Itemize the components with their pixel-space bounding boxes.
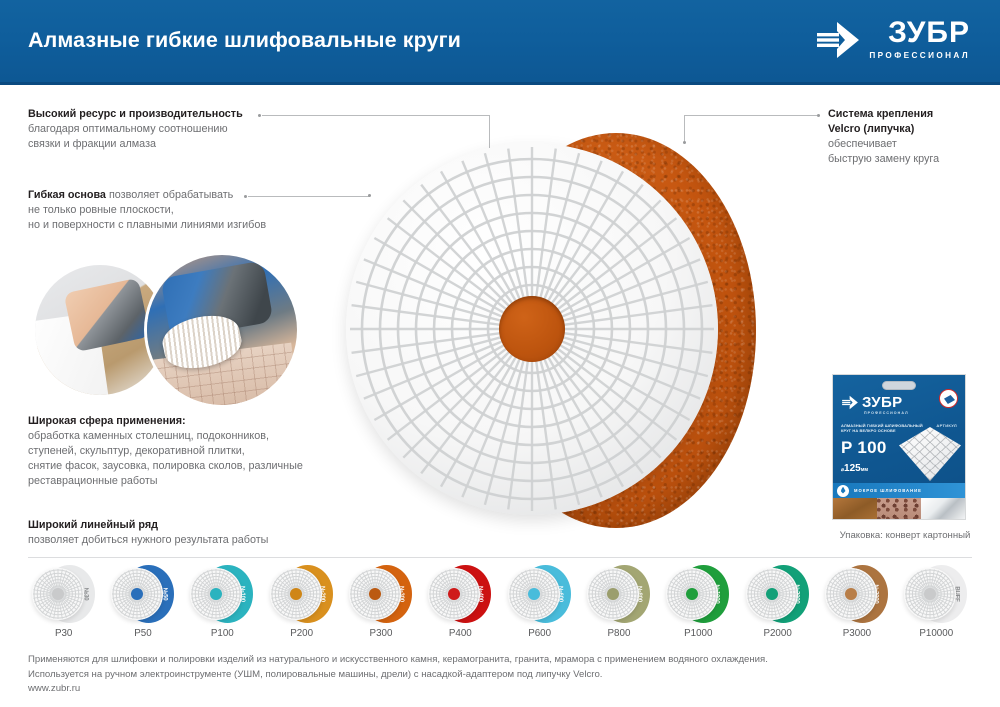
package-caption: Упаковка: конверт картонный (820, 530, 990, 541)
disc-center-hole (131, 588, 143, 600)
diamond-disc-face (346, 143, 718, 515)
callout-line: благодаря оптимальному соотношению (28, 122, 243, 137)
diamond-disc-face (587, 568, 639, 620)
water-drop-icon (837, 485, 849, 497)
callout-heading-rest: позволяет обрабатывать (106, 189, 233, 201)
diameter-value: 125 (844, 463, 861, 474)
callout-heading-row: Гибкая основа позволяет обрабатывать (28, 188, 266, 203)
material-swatches (833, 498, 965, 519)
tile-surface (152, 343, 297, 405)
package-description: АЛМАЗНЫЙ ГИБКИЙ ШЛИФОВАЛЬНЫЙ КРУГ НА ВЕЛ… (841, 423, 923, 434)
lineup-disc: №400 (428, 564, 492, 624)
diamond-disc-face (746, 568, 798, 620)
callout-line: но и поверхности с плавными линиями изги… (28, 218, 266, 233)
callout-heading: Система крепления (828, 107, 939, 122)
package-brand-name: ЗУБР (862, 395, 903, 410)
diamond-disc-face (32, 568, 84, 620)
usage-photo-angle-grinder (147, 255, 297, 405)
callout-line: ступеней, скульптур, декоративной плитки… (28, 444, 303, 459)
callout-heading: Velcro (липучка) (828, 122, 939, 137)
disc-center-hole (52, 588, 64, 600)
leader-dot-velcro (817, 114, 820, 117)
footer-website: www.zubr.ru (28, 682, 972, 697)
package-image: ЗУБР ПРОФЕССИОНАЛ АЛМАЗНЫЙ ГИБКИЙ ШЛИФОВ… (832, 374, 966, 520)
lineup-item-p100[interactable]: №100P100 (183, 564, 262, 646)
callout-line: связки и фракции алмаза (28, 137, 243, 152)
lineup-item-p10000[interactable]: BUFFP10000 (897, 564, 976, 646)
diameter-unit: мм (861, 467, 868, 473)
lineup-item-p1000[interactable]: №1000P1000 (659, 564, 738, 646)
disc-center-hole (845, 588, 857, 600)
lineup-item-label: P400 (421, 628, 500, 639)
quality-badge-icon (939, 389, 958, 408)
lineup-item-p200[interactable]: №200P200 (262, 564, 341, 646)
lineup-item-p2000[interactable]: №2000P2000 (738, 564, 817, 646)
wet-grinding-bar: МОКРОЕ ШЛИФОВАНИЕ (833, 483, 965, 498)
lineup-item-p300[interactable]: №300P300 (341, 564, 420, 646)
lineup-disc: №2000 (746, 564, 810, 624)
diamond-disc-face (904, 568, 956, 620)
callout-wide-lineup: Широкий линейный ряд позволяет добиться … (28, 518, 268, 548)
swatch-stone (833, 498, 877, 519)
lineup-item-p400[interactable]: №400P400 (421, 564, 500, 646)
usage-photo-polishing-edge (35, 265, 165, 395)
main-product-image: №300 (344, 125, 764, 537)
callout-high-resource: Высокий ресурс и производительность благ… (28, 107, 243, 152)
callout-heading: Гибкая основа (28, 189, 106, 201)
lineup-item-label: P100 (183, 628, 262, 639)
lineup-disc: №3000 (825, 564, 889, 624)
package-description-line: НА ВЕЛКРО ОСНОВЕ (852, 428, 895, 433)
lineup-row: №30P30№50P50№100P100№200P200№300P300№400… (24, 564, 976, 646)
brand-logo: ЗУБР ПРОФЕССИОНАЛ (815, 18, 970, 70)
callout-heading: Широкий линейный ряд (28, 518, 268, 533)
lineup-item-p30[interactable]: №30P30 (24, 564, 103, 646)
infographic-page: Алмазные гибкие шлифовальные круги ЗУБР … (0, 0, 1000, 707)
disc-center-hole (290, 588, 302, 600)
leader-line-resource-h (262, 115, 489, 116)
diamond-disc-face (428, 568, 480, 620)
swatch-granite (877, 498, 921, 519)
lineup-disc: №100 (190, 564, 254, 624)
brand-name: ЗУБР (888, 18, 970, 48)
footer-note: Применяются для шлифовки и полировки изд… (28, 653, 972, 697)
diamond-disc-face (190, 568, 242, 620)
lineup-disc: №800 (587, 564, 651, 624)
diamond-disc-face (349, 568, 401, 620)
page-header: Алмазные гибкие шлифовальные круги ЗУБР … (0, 0, 1000, 85)
lineup-item-label: P800 (579, 628, 658, 639)
package-card: ЗУБР ПРОФЕССИОНАЛ АЛМАЗНЫЙ ГИБКИЙ ШЛИФОВ… (832, 374, 966, 520)
package-diameter: ⌀125мм (841, 463, 868, 474)
callout-line: не только ровные плоскости, (28, 203, 266, 218)
leader-dot-resource (258, 114, 261, 117)
lineup-item-p3000[interactable]: №3000P3000 (817, 564, 896, 646)
lineup-item-label: P600 (500, 628, 579, 639)
lineup-item-label: P1000 (659, 628, 738, 639)
page-title: Алмазные гибкие шлифовальные круги (28, 28, 461, 53)
lineup-disc: №50 (111, 564, 175, 624)
callout-line: обеспечивает (828, 137, 939, 152)
callout-heading: Высокий ресурс и производительность (28, 107, 243, 122)
callout-line: снятие фасок, заусовка, полировка сколов… (28, 459, 303, 474)
callout-line: обработка каменных столешниц, подоконник… (28, 429, 303, 444)
lineup-item-label: P2000 (738, 628, 817, 639)
footer-line: Используется на ручном электроинструмент… (28, 668, 972, 683)
callout-heading: Широкая сфера применения: (28, 414, 303, 429)
lineup-item-p600[interactable]: №600P600 (500, 564, 579, 646)
lineup-item-label: P10000 (897, 628, 976, 639)
leader-line-velcro-h (684, 115, 817, 116)
zubr-arrow-icon (815, 20, 861, 60)
lineup-item-label: P300 (341, 628, 420, 639)
package-brand-logo: ЗУБР (841, 395, 903, 410)
lineup-item-label: P200 (262, 628, 341, 639)
diamond-disc-face (508, 568, 560, 620)
zubr-arrow-icon (841, 395, 859, 410)
lineup-divider (28, 557, 972, 558)
lineup-disc: №30 (32, 564, 96, 624)
lineup-item-label: P50 (103, 628, 182, 639)
callout-line: реставрационные работы (28, 474, 303, 489)
diamond-disc-face (270, 568, 322, 620)
callout-line: позволяет добиться нужного результата ра… (28, 533, 268, 548)
usage-photo-group (35, 255, 305, 405)
diamond-disc-face (111, 568, 163, 620)
lineup-disc: №200 (270, 564, 334, 624)
package-grit: P 100 (841, 438, 887, 458)
callout-line: быструю замену круга (828, 152, 939, 167)
callout-flexible-base: Гибкая основа позволяет обрабатывать не … (28, 188, 266, 233)
package-article: АРТИКУЛ (936, 423, 957, 428)
lineup-disc: BUFF (904, 564, 968, 624)
callout-velcro-mount: Система крепления Velcro (липучка) обесп… (828, 107, 939, 167)
swatch-marble (921, 498, 965, 519)
disc-center-hole (766, 588, 778, 600)
wet-grinding-label: МОКРОЕ ШЛИФОВАНИЕ (854, 488, 922, 493)
diamond-disc-face (666, 568, 718, 620)
package-hang-hole (882, 381, 916, 390)
package-brand-subtitle: ПРОФЕССИОНАЛ (864, 411, 909, 415)
disc-center-hole (607, 588, 619, 600)
lineup-item-label: P30 (24, 628, 103, 639)
callout-application-area: Широкая сфера применения: обработка каме… (28, 414, 303, 489)
lineup-item-label: P3000 (817, 628, 896, 639)
diamond-disc-face (825, 568, 877, 620)
lineup-disc: №600 (508, 564, 572, 624)
disc-center-hole (499, 296, 565, 362)
lineup-item-p800[interactable]: №800P800 (579, 564, 658, 646)
lineup-disc: №1000 (666, 564, 730, 624)
package-product-diamond-image (899, 427, 961, 481)
lineup-disc: №300 (349, 564, 413, 624)
footer-line: Применяются для шлифовки и полировки изд… (28, 653, 972, 668)
disc-center-hole (369, 588, 381, 600)
lineup-item-p50[interactable]: №50P50 (103, 564, 182, 646)
brand-subtitle: ПРОФЕССИОНАЛ (869, 51, 970, 60)
disc-center-hole (528, 588, 540, 600)
